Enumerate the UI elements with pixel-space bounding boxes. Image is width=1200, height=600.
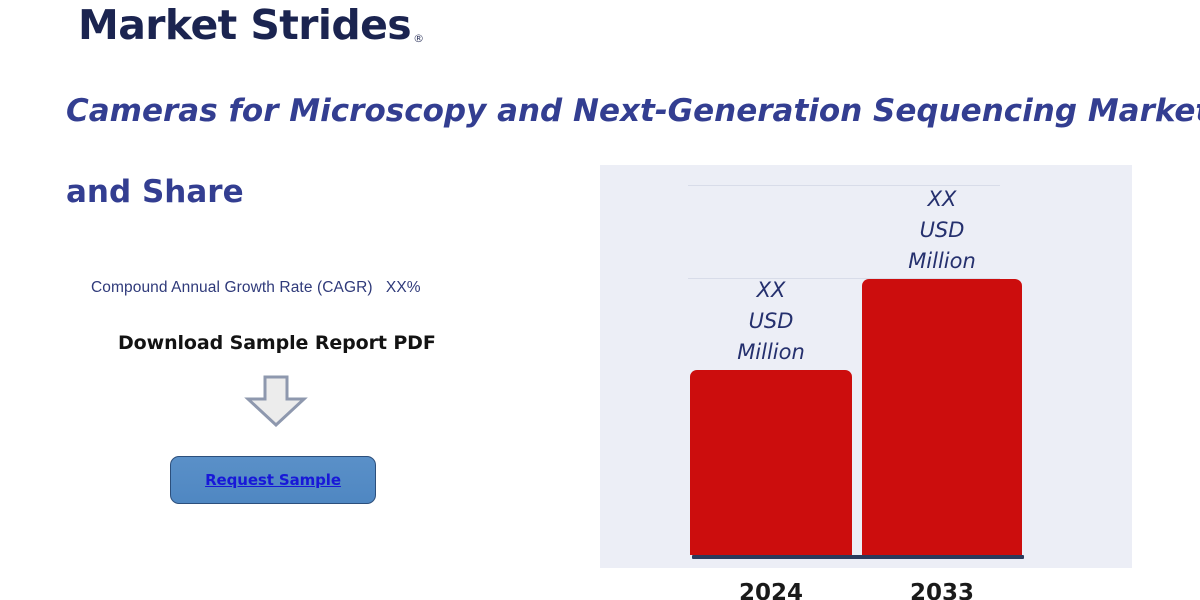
brand-logo-text: Market Strides	[78, 4, 411, 47]
chart-bar-label-2033: XX USD Million	[882, 184, 1002, 277]
chart-xtick-2033: 2033	[882, 580, 1002, 600]
chart-xtick-2024: 2024	[711, 580, 831, 600]
page-title-line-1: Cameras for Microscopy and Next-Generati…	[66, 96, 1146, 127]
download-sample-heading: Download Sample Report PDF	[118, 332, 436, 354]
brand-logo: Market Strides ®	[78, 4, 424, 47]
page-title-market-name: Cameras for Microscopy and Next-Generati…	[66, 93, 1200, 129]
chart-plot-area: XX USD Million XX USD Million 2024 2033	[600, 165, 1132, 568]
chart-bar-2033	[862, 279, 1022, 555]
cagr-statement: Compound Annual Growth Rate (CAGR) XX%	[91, 279, 421, 297]
request-sample-button[interactable]: Request Sample	[170, 456, 376, 504]
chart-x-axis	[692, 555, 1024, 559]
market-size-bar-chart: XX USD Million XX USD Million 2024 2033	[600, 165, 1132, 568]
request-sample-button-label: Request Sample	[205, 471, 341, 489]
registered-trademark-icon: ®	[413, 33, 424, 44]
chart-bar-label-2024: XX USD Million	[711, 275, 831, 368]
report-cover-page: Market Strides ® Cameras for Microscopy …	[0, 0, 1200, 600]
chart-bar-2024	[690, 370, 852, 555]
down-arrow-icon	[239, 375, 313, 427]
